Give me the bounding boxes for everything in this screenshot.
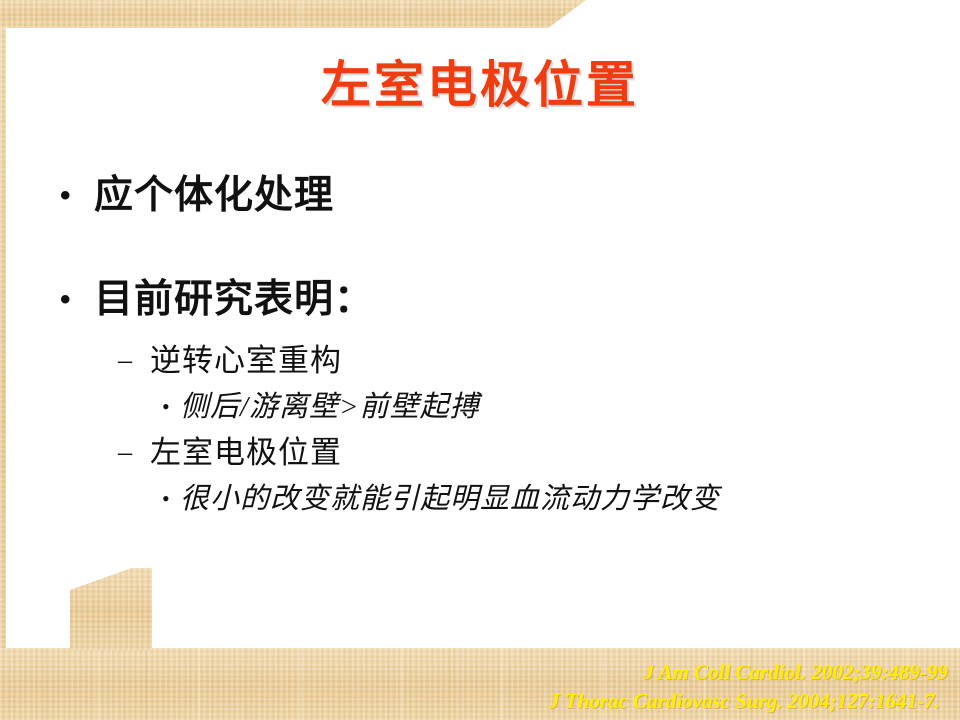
content-body: • 应个体化处理 • 目前研究表明： – 逆转心室重构 • 侧后/游离壁>前壁起… [46,168,926,522]
bullet-level2-1: – 逆转心室重构 [46,338,926,384]
citation-line-1: J Am Coll Cardiol. 2002;39:489-99 [388,658,948,687]
page-title: 左室电极位置 [0,56,960,114]
bullet-level3-2: • 很小的改变就能引起明显血流动力学改变 [46,476,926,522]
bullet-text: 应个体化处理 [94,174,334,217]
bullet-text: 逆转心室重构 [150,343,342,378]
bullet-text: 目前研究表明： [94,278,374,321]
bullet-text: 很小的改变就能引起明显血流动力学改变 [180,483,720,515]
bottom-pillar-shape [62,568,152,650]
bullet-level1-1: • 应个体化处理 [46,168,926,224]
bullet-marker-dot: • [60,272,72,328]
slide-canvas: 左室电极位置 • 应个体化处理 • 目前研究表明： – 逆转心室重构 • 侧后/… [0,0,960,720]
bullet-level3-1: • 侧后/游离壁>前壁起搏 [46,384,926,430]
bullet-marker-dash: – [118,338,133,384]
spacer [46,328,926,338]
spacer [46,224,926,272]
bullet-marker-dot: • [162,384,171,430]
top-accent-band [0,0,586,28]
bullet-marker-dot: • [162,476,171,522]
bullet-level2-2: – 左室电极位置 [46,430,926,476]
citation-block: J Am Coll Cardiol. 2002;39:489-99 J Thor… [388,658,948,716]
citation-line-2: J Thorac Cardiovasc Surg. 2004;127:1641-… [388,687,948,716]
bullet-text: 左室电极位置 [150,435,342,470]
bullet-level1-2: • 目前研究表明： [46,272,926,328]
bullet-marker-dash: – [118,430,133,476]
bullet-marker-dot: • [60,168,72,224]
bullet-text: 侧后/游离壁>前壁起搏 [180,391,480,423]
